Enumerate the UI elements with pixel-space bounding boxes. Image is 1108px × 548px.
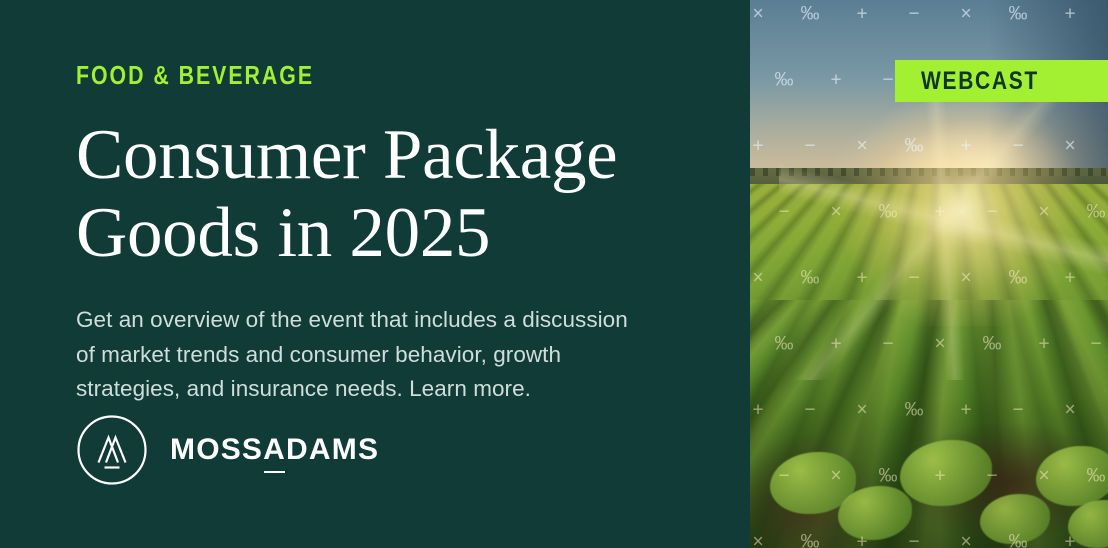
body-line-2: of market trends and consumer behavior, … xyxy=(76,338,716,373)
headline-line-2: Goods in 2025 xyxy=(76,194,716,272)
moss-adams-logo[interactable]: MOSSADAMS xyxy=(76,414,379,486)
wordmark-moss: MOSS xyxy=(170,433,263,466)
body-description: Get an overview of the event that includ… xyxy=(76,303,716,407)
headline-line-1: Consumer Package xyxy=(76,116,716,194)
body-line-3: strategies, and insurance needs. Learn m… xyxy=(76,372,716,407)
body-line-1: Get an overview of the event that includ… xyxy=(76,303,716,338)
moss-adams-mountain-icon xyxy=(76,414,148,486)
wordmark-a-underlined: A xyxy=(263,433,286,466)
webcast-badge[interactable]: WEBCAST xyxy=(895,60,1108,102)
moss-adams-wordmark: MOSSADAMS xyxy=(170,435,379,465)
marketing-banner: FOOD & BEVERAGE Consumer Package Goods i… xyxy=(0,0,1108,548)
eyebrow-category-label: FOOD & BEVERAGE xyxy=(76,62,630,88)
webcast-badge-label: WEBCAST xyxy=(921,69,1039,94)
page-title: Consumer Package Goods in 2025 xyxy=(76,116,716,272)
wordmark-dams: DAMS xyxy=(286,433,379,466)
